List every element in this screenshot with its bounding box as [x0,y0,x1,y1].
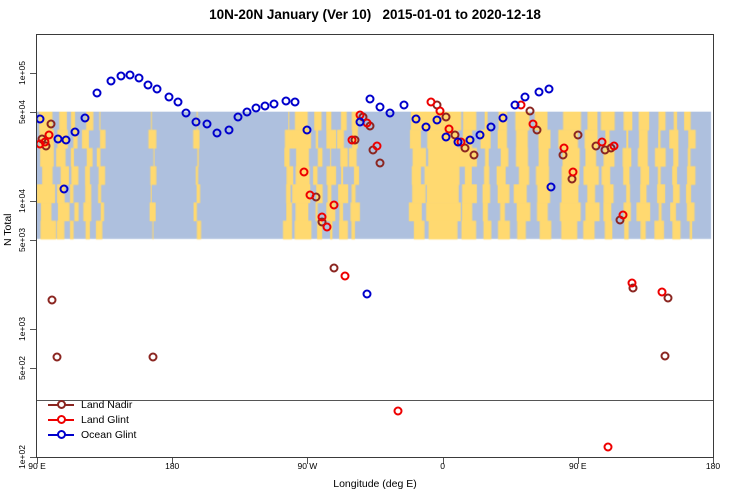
legend-dot-icon [57,400,66,409]
data-point-ocean-glint [93,89,102,98]
chart-figure: 10N-20N January (Ver 10) 2015-01-01 to 2… [0,0,750,500]
x-tick-label: 180 [165,461,179,471]
data-point-ocean-glint [61,136,70,145]
data-point-ocean-glint [174,97,183,106]
data-point-ocean-glint [465,136,474,145]
legend-marker-icon [48,429,74,441]
data-point-land-glint [318,212,327,221]
data-point-land-glint [306,191,315,200]
data-point-ocean-glint [165,92,174,101]
data-point-land-glint [597,138,606,147]
chart-legend: Land NadirLand GlintOcean Glint [48,398,136,442]
data-point-land-glint [393,406,402,415]
data-point-land-nadir [48,295,57,304]
data-point-land-glint [426,97,435,106]
data-point-ocean-glint [441,132,450,141]
data-point-land-nadir [375,158,384,167]
y-tick-label: 1e+02 [17,445,27,469]
legend-item-land-nadir[interactable]: Land Nadir [48,398,136,412]
data-point-ocean-glint [498,113,507,122]
data-point-land-glint [560,144,569,153]
data-point-ocean-glint [355,117,364,126]
data-point-ocean-glint [117,72,126,81]
data-point-land-nadir [525,106,534,115]
x-tick-label: 0 [440,461,445,471]
legend-item-ocean-glint[interactable]: Ocean Glint [48,428,136,442]
legend-dot-icon [57,430,66,439]
y-tick-label: 1e+03 [17,317,27,341]
data-point-ocean-glint [181,109,190,118]
data-point-land-glint [330,201,339,210]
legend-dot-icon [57,415,66,424]
data-point-land-glint [609,142,618,151]
data-point-ocean-glint [282,96,291,105]
data-point-ocean-glint [432,116,441,125]
data-point-ocean-glint [510,100,519,109]
data-point-land-glint [618,211,627,220]
data-point-ocean-glint [70,127,79,136]
data-point-land-glint [340,272,349,281]
x-tick-label: 90 W [297,461,317,471]
data-point-ocean-glint [234,112,243,121]
data-point-ocean-glint [363,289,372,298]
data-point-ocean-glint [521,93,530,102]
y-tick-label: 1e+04 [17,189,27,213]
data-point-ocean-glint [386,109,395,118]
y-tick-label: 1e+05 [17,62,27,86]
data-point-ocean-glint [135,74,144,83]
data-point-ocean-glint [213,129,222,138]
legend-label: Land Nadir [81,399,132,411]
y-tick-label: 5e+02 [17,356,27,380]
data-point-land-glint [322,222,331,231]
data-point-land-nadir [660,351,669,360]
data-point-ocean-glint [81,113,90,122]
data-point-ocean-glint [291,97,300,106]
data-point-ocean-glint [106,76,115,85]
data-point-ocean-glint [303,126,312,135]
data-point-land-nadir [46,120,55,129]
legend-label: Land Glint [81,414,129,426]
data-point-land-nadir [52,352,61,361]
data-point-land-nadir [330,264,339,273]
chart-title: 10N-20N January (Ver 10) 2015-01-01 to 2… [0,7,750,22]
data-point-ocean-glint [270,99,279,108]
data-point-land-glint [348,136,357,145]
data-point-ocean-glint [476,131,485,140]
data-point-land-nadir [148,352,157,361]
data-point-land-glint [372,142,381,151]
data-point-land-glint [603,442,612,451]
x-tick-label: 90 E [569,461,587,471]
x-tick-label: 90 E [28,461,46,471]
y-axis-label: N Total [2,214,14,247]
data-point-land-nadir [470,151,479,160]
data-point-ocean-glint [453,138,462,147]
data-point-land-glint [300,167,309,176]
data-point-ocean-glint [243,107,252,116]
data-point-ocean-glint [534,87,543,96]
y-tick-label: 5e+04 [17,100,27,124]
data-point-ocean-glint [261,101,270,110]
data-point-land-glint [657,288,666,297]
data-point-ocean-glint [192,117,201,126]
data-point-ocean-glint [60,184,69,193]
data-point-ocean-glint [411,115,420,124]
legend-item-land-glint[interactable]: Land Glint [48,413,136,427]
data-point-land-glint [627,278,636,287]
data-point-ocean-glint [225,126,234,135]
data-point-land-nadir [573,131,582,140]
data-point-land-glint [569,167,578,176]
x-axis-label: Longitude (deg E) [0,478,750,490]
data-point-ocean-glint [144,80,153,89]
data-point-ocean-glint [366,95,375,104]
data-point-land-glint [528,120,537,129]
x-tick-label: 180 [706,461,720,471]
legend-marker-icon [48,414,74,426]
data-point-ocean-glint [375,102,384,111]
data-point-ocean-glint [153,84,162,93]
data-point-ocean-glint [36,115,45,124]
data-point-ocean-glint [399,100,408,109]
legend-marker-icon [48,399,74,411]
data-point-ocean-glint [202,120,211,129]
data-point-ocean-glint [126,70,135,79]
data-point-ocean-glint [486,123,495,132]
data-point-ocean-glint [545,84,554,93]
data-point-land-glint [45,131,54,140]
data-point-ocean-glint [546,182,555,191]
scatter-data-layer [37,35,713,457]
data-point-land-glint [435,106,444,115]
y-tick-label: 5e+03 [17,228,27,252]
data-point-ocean-glint [422,123,431,132]
legend-label: Ocean Glint [81,429,136,441]
data-point-ocean-glint [252,103,261,112]
plot-area[interactable] [36,34,714,458]
